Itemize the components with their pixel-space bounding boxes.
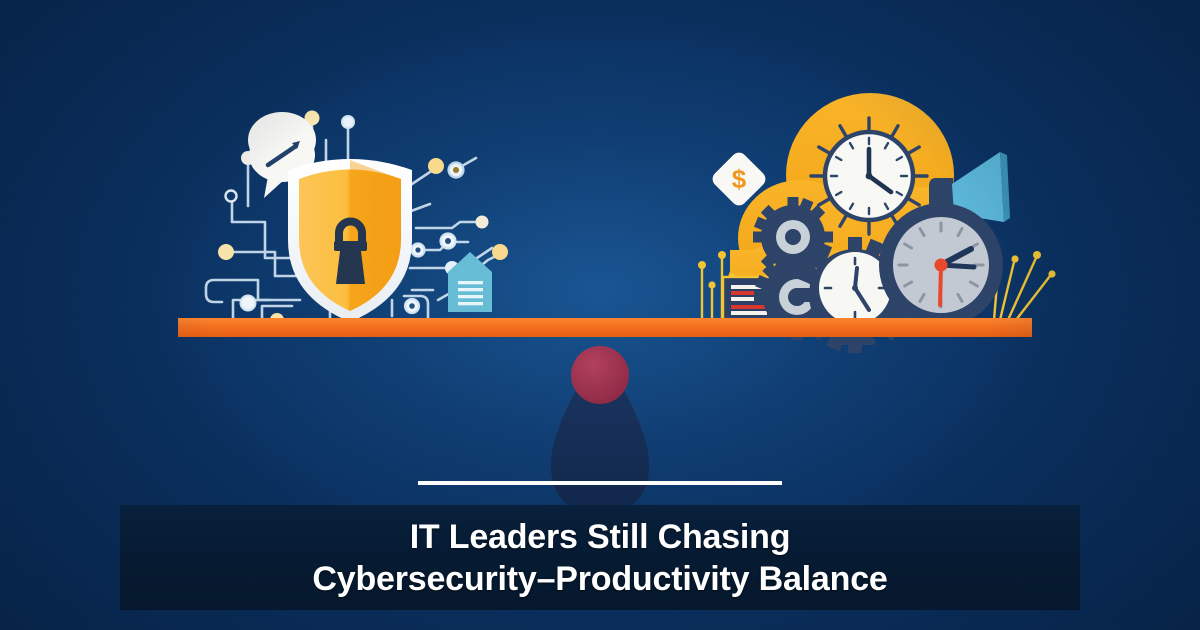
title-banner: IT Leaders Still Chasing Cybersecurity–P… bbox=[120, 505, 1080, 610]
title-line-1: IT Leaders Still Chasing bbox=[410, 516, 791, 558]
title-divider-rule bbox=[418, 481, 782, 485]
title-line-2: Cybersecurity–Productivity Balance bbox=[312, 558, 887, 600]
banner-graphic: $ bbox=[0, 0, 1200, 630]
